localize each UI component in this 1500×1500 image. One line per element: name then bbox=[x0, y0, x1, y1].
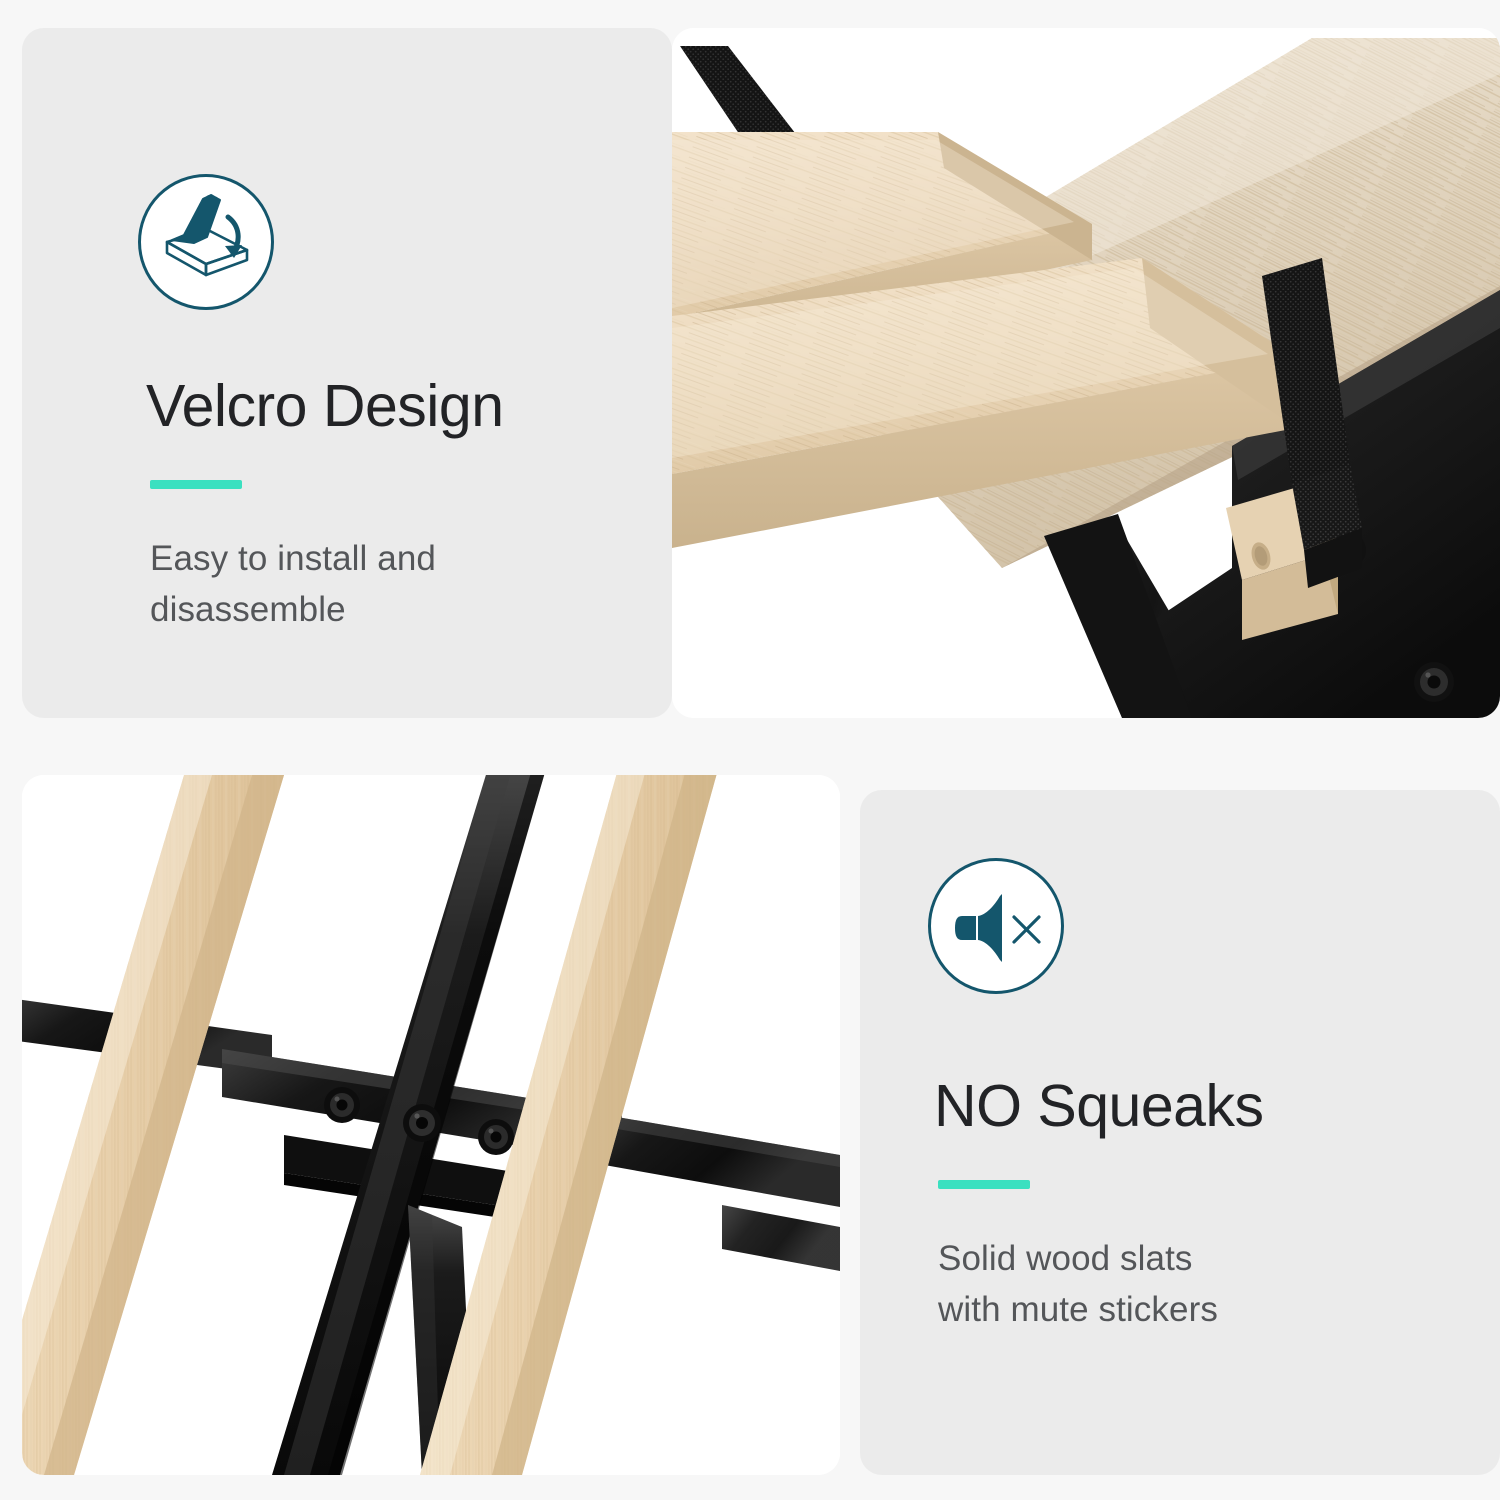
feature-card-no-squeaks: NO Squeaks Solid wood slats with mute st… bbox=[860, 790, 1500, 1475]
feature-subtitle-line1: Solid wood slats bbox=[938, 1234, 1408, 1285]
accent-rule bbox=[938, 1180, 1030, 1189]
accent-rule bbox=[150, 480, 242, 489]
feature-subtitle: Solid wood slats with mute stickers bbox=[938, 1234, 1408, 1336]
feature-title: Velcro Design bbox=[146, 372, 504, 440]
slat-frame-photo bbox=[22, 775, 840, 1475]
feature-subtitle-line1: Easy to install and bbox=[150, 534, 610, 585]
product-feature-collage: Velcro Design Easy to install and disass… bbox=[0, 0, 1500, 1500]
feature-title: NO Squeaks bbox=[934, 1072, 1264, 1140]
feature-subtitle-line2: disassemble bbox=[150, 585, 610, 636]
speaker-mute-glyph bbox=[944, 874, 1048, 978]
feature-subtitle-line2: with mute stickers bbox=[938, 1285, 1408, 1336]
speaker-mute-icon bbox=[928, 858, 1064, 994]
velcro-joint-illustration bbox=[672, 28, 1500, 718]
velcro-peel-icon bbox=[138, 174, 274, 310]
feature-card-velcro-design: Velcro Design Easy to install and disass… bbox=[22, 28, 672, 718]
velcro-peel-glyph bbox=[154, 190, 258, 294]
feature-subtitle: Easy to install and disassemble bbox=[150, 534, 610, 636]
slat-frame-illustration bbox=[22, 775, 840, 1475]
velcro-joint-photo bbox=[672, 28, 1500, 718]
